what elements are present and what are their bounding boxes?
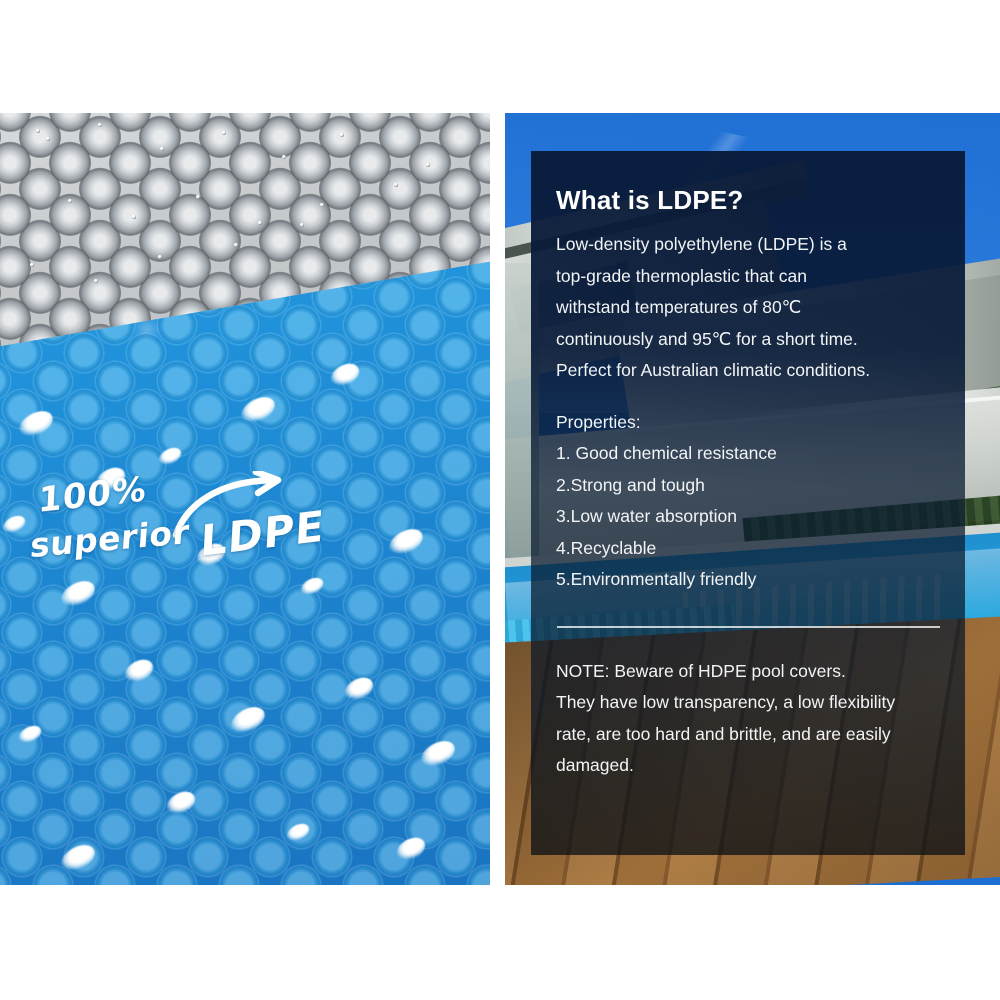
water-droplet [300, 223, 304, 227]
intro-line: continuously and 95℃ for a short time. [556, 324, 941, 356]
intro-paragraph: Low-density polyethylene (LDPE) is a top… [556, 229, 941, 387]
water-droplet [30, 263, 34, 267]
pool-cover-product-photo: 100% superior LDPE [0, 113, 490, 885]
water-droplet [234, 243, 238, 247]
water-droplet [426, 163, 430, 167]
water-droplet [68, 199, 72, 203]
note-line: damaged. [556, 750, 941, 782]
water-droplet [36, 129, 40, 133]
water-droplet [46, 137, 50, 141]
note-line: They have low transparency, a low flexib… [556, 687, 941, 719]
infographic-canvas: 100% superior LDPE What is LDPE? [0, 0, 1000, 1000]
note-line: NOTE: Beware of HDPE pool covers. [556, 656, 941, 688]
property-item: 1. Good chemical resistance [556, 438, 941, 470]
water-droplet [282, 155, 286, 159]
water-droplet [320, 203, 324, 207]
ldpe-info-card: What is LDPE? Low-density polyethylene (… [531, 151, 965, 855]
note-block: NOTE: Beware of HDPE pool covers. They h… [556, 656, 941, 782]
properties-list: 1. Good chemical resistance 2.Strong and… [556, 438, 941, 596]
water-droplet [222, 131, 226, 135]
intro-line: top-grade thermoplastic that can [556, 261, 941, 293]
water-droplet [160, 147, 164, 151]
card-title: What is LDPE? [556, 185, 941, 216]
section-divider [557, 626, 940, 628]
water-droplet [258, 221, 262, 225]
property-item: 4.Recyclable [556, 533, 941, 565]
property-item: 2.Strong and tough [556, 470, 941, 502]
note-line: rate, are too hard and brittle, and are … [556, 719, 941, 751]
water-droplet [158, 255, 162, 259]
water-droplet [196, 195, 200, 199]
intro-line: Perfect for Australian climatic conditio… [556, 355, 941, 387]
water-droplet [394, 183, 398, 187]
water-droplet [132, 215, 136, 219]
intro-line: withstand temperatures of 80℃ [556, 292, 941, 324]
pool-scene-photo: What is LDPE? Low-density polyethylene (… [505, 113, 1000, 885]
property-item: 3.Low water absorption [556, 501, 941, 533]
water-droplet [94, 279, 98, 283]
property-item: 5.Environmentally friendly [556, 564, 941, 596]
water-droplet [340, 133, 344, 137]
properties-heading: Properties: [556, 407, 941, 439]
water-droplet [98, 123, 102, 127]
intro-line: Low-density polyethylene (LDPE) is a [556, 229, 941, 261]
